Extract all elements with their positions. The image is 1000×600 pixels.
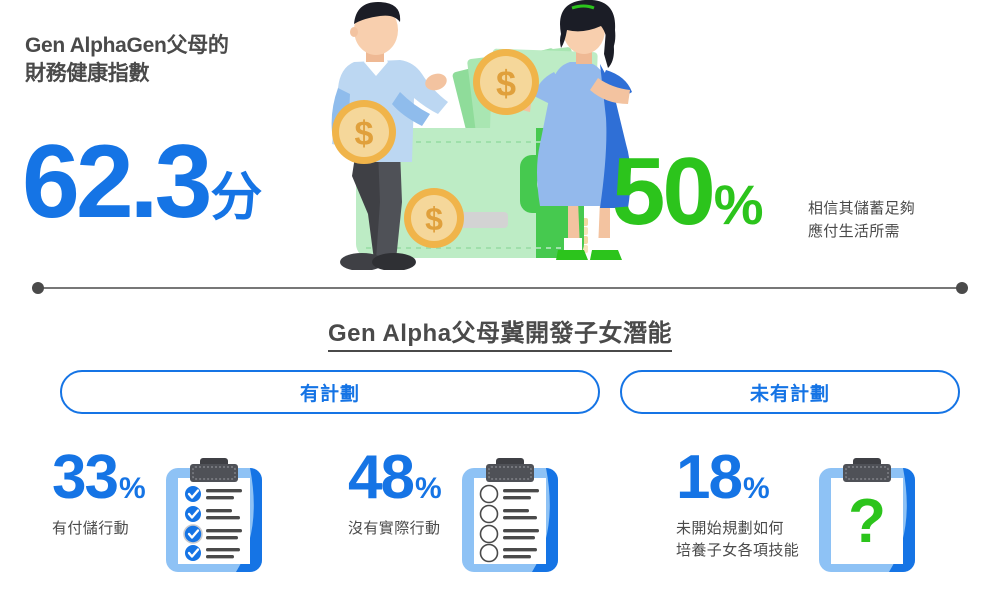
svg-text:$: $ <box>425 201 443 237</box>
stat-unit: % <box>119 474 146 504</box>
percent-sign: % <box>714 177 764 233</box>
stat-value: 33 <box>52 450 117 506</box>
stat-value-line: 18 % <box>676 450 799 506</box>
stat-label: 有付儲行動 <box>52 518 146 540</box>
savings-confidence-percent: 50 % <box>612 148 764 236</box>
stat-text: 33 % 有付儲行動 <box>52 450 146 540</box>
divider <box>0 281 1000 295</box>
pill-no-plan[interactable]: 未有計劃 <box>620 370 960 414</box>
section-heading: Gen Alpha父母冀開發子女潛能 <box>0 313 1000 348</box>
page-title: Gen AlphaGen父母的 財務健康指數 <box>25 32 325 89</box>
gold-coin-icon: $ <box>473 49 539 115</box>
stat-saving-action: 33 % 有付儲行動 <box>52 450 268 579</box>
svg-text:?: ? <box>848 487 886 556</box>
svg-text:$: $ <box>355 115 374 153</box>
top-section: Gen AlphaGen父母的 財務健康指數 62.3 分 $ <box>0 0 1000 275</box>
clipboard-question-icon: ? <box>813 456 921 579</box>
score-unit: 分 <box>210 172 262 224</box>
stat-label: 沒有實際行動 <box>348 518 442 540</box>
section-heading-text: Gen Alpha父母冀開發子女潛能 <box>328 320 672 352</box>
infographic-page: Gen AlphaGen父母的 財務健康指數 62.3 分 $ <box>0 0 1000 600</box>
clipboard-checked-icon <box>160 456 268 579</box>
stat-value: 48 <box>348 450 413 506</box>
gold-coin-icon: $ <box>332 100 396 164</box>
stat-value: 18 <box>676 450 741 506</box>
score-value: 62.3 <box>22 135 208 231</box>
clipboard-empty-icon <box>456 456 564 579</box>
stat-value-line: 48 % <box>348 450 442 506</box>
percent-value: 50 <box>612 148 713 236</box>
stat-text: 18 % 未開始規劃如何 培養子女各項技能 <box>676 450 799 561</box>
stat-text: 48 % 沒有實際行動 <box>348 450 442 540</box>
pill-no-plan-label: 未有計劃 <box>750 379 830 406</box>
wallet-money-people-illustration: $ <box>318 0 658 270</box>
stat-value-line: 33 % <box>52 450 146 506</box>
stat-not-started-planning: 18 % 未開始規劃如何 培養子女各項技能 ? <box>676 450 921 579</box>
pill-has-plan-label: 有計劃 <box>300 379 360 406</box>
stat-label: 未開始規劃如何 培養子女各項技能 <box>676 518 799 562</box>
pill-has-plan[interactable]: 有計劃 <box>60 370 600 414</box>
stat-no-real-action: 48 % 沒有實際行動 <box>348 450 564 579</box>
percent-description: 相信其儲蓄足夠 應付生活所需 <box>808 198 915 243</box>
gold-coin-icon: $ <box>404 188 464 248</box>
svg-text:$: $ <box>496 63 516 104</box>
stat-unit: % <box>415 474 442 504</box>
stat-unit: % <box>743 474 770 504</box>
divider-dot-right <box>956 282 968 294</box>
financial-health-score: 62.3 分 <box>22 135 262 231</box>
